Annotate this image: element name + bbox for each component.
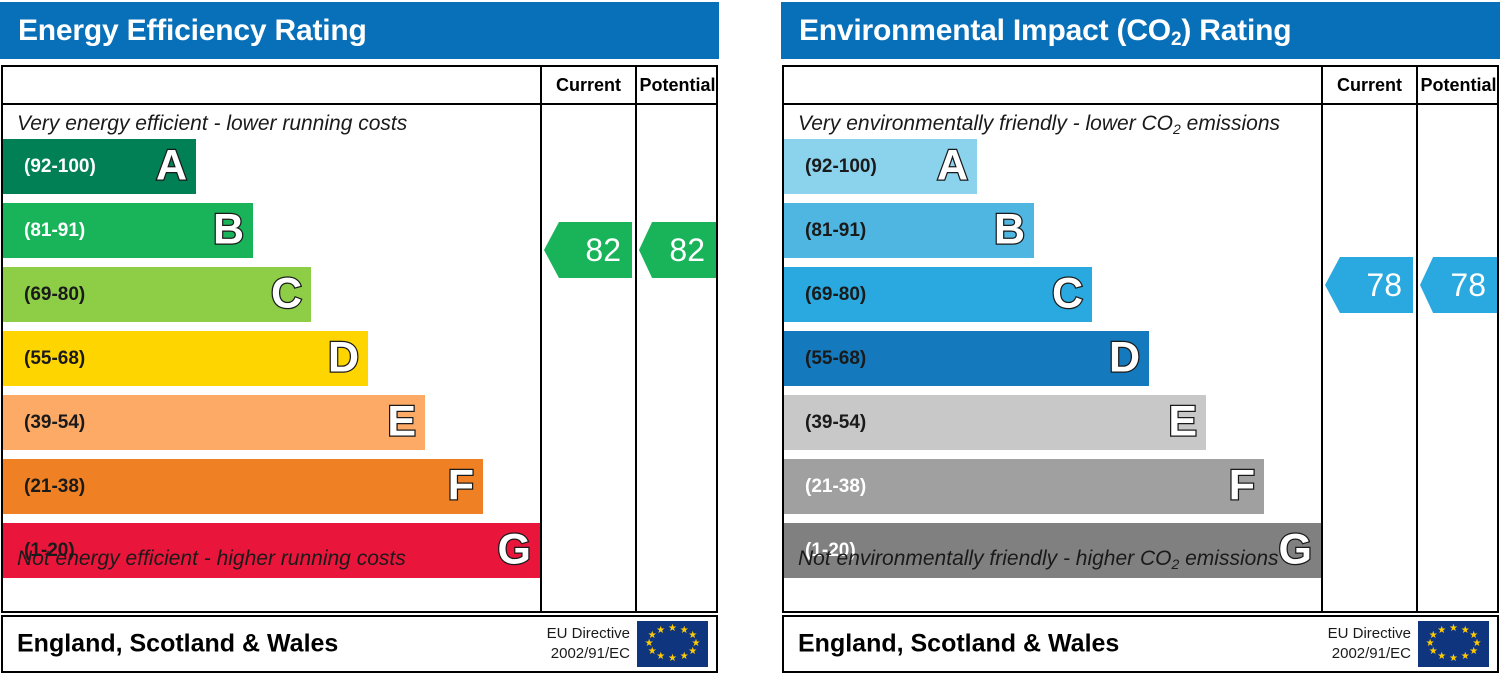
eu-flag-icon-co2: ★ ★ ★ ★ ★ ★ ★ ★ ★ ★ ★ ★ xyxy=(1418,621,1489,667)
band-e-range: (39-54) xyxy=(24,412,85,434)
column-header-potential-co2: Potential xyxy=(1418,67,1499,103)
band-a-co2-range: (92-100) xyxy=(805,156,877,178)
footer-region-label-co2: England, Scotland & Wales xyxy=(798,630,1119,659)
band-f-co2: (21-38) F xyxy=(784,459,1264,514)
environmental-impact-header-row: Current Potential xyxy=(784,67,1497,105)
band-d-co2-letter: D xyxy=(1109,337,1140,380)
band-b-co2-letter: B xyxy=(994,209,1025,252)
band-c-co2-range: (69-80) xyxy=(805,284,866,306)
energy-efficiency-title-text: Energy Efficiency Rating xyxy=(18,14,367,47)
eu-flag-icon: ★ ★ ★ ★ ★ ★ ★ ★ ★ ★ ★ ★ xyxy=(637,621,708,667)
band-a-co2: (92-100) A xyxy=(784,139,977,194)
environmental-impact-title-suffix: ) Rating xyxy=(1181,14,1291,47)
band-f: (21-38) F xyxy=(3,459,483,514)
potential-rating-arrow: 82 xyxy=(639,222,716,278)
environmental-impact-title-subscript: 2 xyxy=(1171,29,1181,50)
caption-bottom-pre: Not environmentally friendly - higher CO xyxy=(798,547,1172,570)
footer-directive-line1: EU Directive xyxy=(547,624,630,644)
band-a: (92-100) A xyxy=(3,139,196,194)
footer-directive-co2: EU Directive 2002/91/EC xyxy=(1328,624,1411,664)
footer-region-label: England, Scotland & Wales xyxy=(17,630,338,659)
footer-directive-line1-co2: EU Directive xyxy=(1328,624,1411,644)
band-c-co2-letter: C xyxy=(1052,273,1083,316)
band-c-range: (69-80) xyxy=(24,284,85,306)
column-divider-current xyxy=(540,67,542,611)
band-b-co2: (81-91) B xyxy=(784,203,1034,258)
band-f-co2-range: (21-38) xyxy=(805,476,866,498)
energy-efficiency-title: Energy Efficiency Rating xyxy=(0,14,367,48)
band-e-co2-letter: E xyxy=(1168,401,1197,444)
band-c-co2: (69-80) C xyxy=(784,267,1092,322)
environmental-impact-footer: England, Scotland & Wales EU Directive 2… xyxy=(782,615,1499,673)
band-d-letter: D xyxy=(328,337,359,380)
epc-certificate-page: Energy Efficiency Rating Current Potenti… xyxy=(0,0,1500,675)
band-a-co2-letter: A xyxy=(937,145,968,188)
energy-efficiency-bands: (92-100) A (81-91) B (69-80) C (55-68) D… xyxy=(3,139,540,583)
environmental-impact-caption-top: Very environmentally friendly - lower CO… xyxy=(784,105,1321,143)
band-f-co2-letter: F xyxy=(1229,465,1255,508)
band-d-range: (55-68) xyxy=(24,348,85,370)
band-b: (81-91) B xyxy=(3,203,253,258)
current-rating-value: 82 xyxy=(585,234,621,266)
environmental-impact-bands: (92-100) A (81-91) B (69-80) C (55-68) D… xyxy=(784,139,1321,583)
band-f-letter: F xyxy=(448,465,474,508)
energy-efficiency-footer: England, Scotland & Wales EU Directive 2… xyxy=(1,615,718,673)
energy-efficiency-title-bar: Energy Efficiency Rating xyxy=(0,2,719,59)
potential-rating-value: 82 xyxy=(669,234,705,266)
band-a-letter: A xyxy=(156,145,187,188)
band-c-letter: C xyxy=(271,273,302,316)
band-d: (55-68) D xyxy=(3,331,368,386)
caption-top-subscript: 2 xyxy=(1173,121,1181,137)
caption-bottom-post: emissions xyxy=(1179,547,1278,570)
environmental-impact-title-text: Environmental Impact (CO xyxy=(799,14,1171,47)
caption-top-post: emissions xyxy=(1181,112,1280,135)
current-rating-arrow: 82 xyxy=(544,222,632,278)
band-d-co2: (55-68) D xyxy=(784,331,1149,386)
band-b-letter: B xyxy=(213,209,244,252)
band-c: (69-80) C xyxy=(3,267,311,322)
band-e-co2-range: (39-54) xyxy=(805,412,866,434)
environmental-impact-grid: Current Potential Very environmentally f… xyxy=(782,65,1499,613)
environmental-impact-panel: Environmental Impact (CO2) Rating Curren… xyxy=(781,0,1500,675)
energy-efficiency-caption-bottom: Not energy efficient - higher running co… xyxy=(3,539,540,579)
footer-directive-line2-co2: 2002/91/EC xyxy=(1328,644,1411,664)
band-e-letter: E xyxy=(387,401,416,444)
environmental-impact-caption-bottom: Not environmentally friendly - higher CO… xyxy=(784,539,1321,579)
column-header-current: Current xyxy=(542,67,635,103)
energy-efficiency-caption-top: Very energy efficient - lower running co… xyxy=(3,105,540,143)
band-b-range: (81-91) xyxy=(24,220,85,242)
column-divider-potential-co2 xyxy=(1416,67,1418,611)
band-e: (39-54) E xyxy=(3,395,425,450)
caption-bottom-subscript: 2 xyxy=(1172,556,1180,572)
band-d-co2-range: (55-68) xyxy=(805,348,866,370)
footer-directive-line2: 2002/91/EC xyxy=(547,644,630,664)
environmental-impact-title-bar: Environmental Impact (CO2) Rating xyxy=(781,2,1500,59)
column-divider-current-co2 xyxy=(1321,67,1323,611)
current-rating-arrow-co2: 78 xyxy=(1325,257,1413,313)
caption-top-pre: Very environmentally friendly - lower CO xyxy=(798,112,1173,135)
band-e-co2: (39-54) E xyxy=(784,395,1206,450)
energy-efficiency-header-row: Current Potential xyxy=(3,67,716,105)
potential-rating-value-co2: 78 xyxy=(1450,269,1486,301)
column-divider-potential xyxy=(635,67,637,611)
energy-efficiency-grid: Current Potential Very energy efficient … xyxy=(1,65,718,613)
band-a-range: (92-100) xyxy=(24,156,96,178)
current-rating-value-co2: 78 xyxy=(1366,269,1402,301)
band-b-co2-range: (81-91) xyxy=(805,220,866,242)
energy-efficiency-panel: Energy Efficiency Rating Current Potenti… xyxy=(0,0,719,675)
band-f-range: (21-38) xyxy=(24,476,85,498)
column-header-potential: Potential xyxy=(637,67,718,103)
footer-directive: EU Directive 2002/91/EC xyxy=(547,624,630,664)
environmental-impact-title: Environmental Impact (CO2) Rating xyxy=(781,14,1291,48)
column-header-current-co2: Current xyxy=(1323,67,1416,103)
potential-rating-arrow-co2: 78 xyxy=(1420,257,1497,313)
